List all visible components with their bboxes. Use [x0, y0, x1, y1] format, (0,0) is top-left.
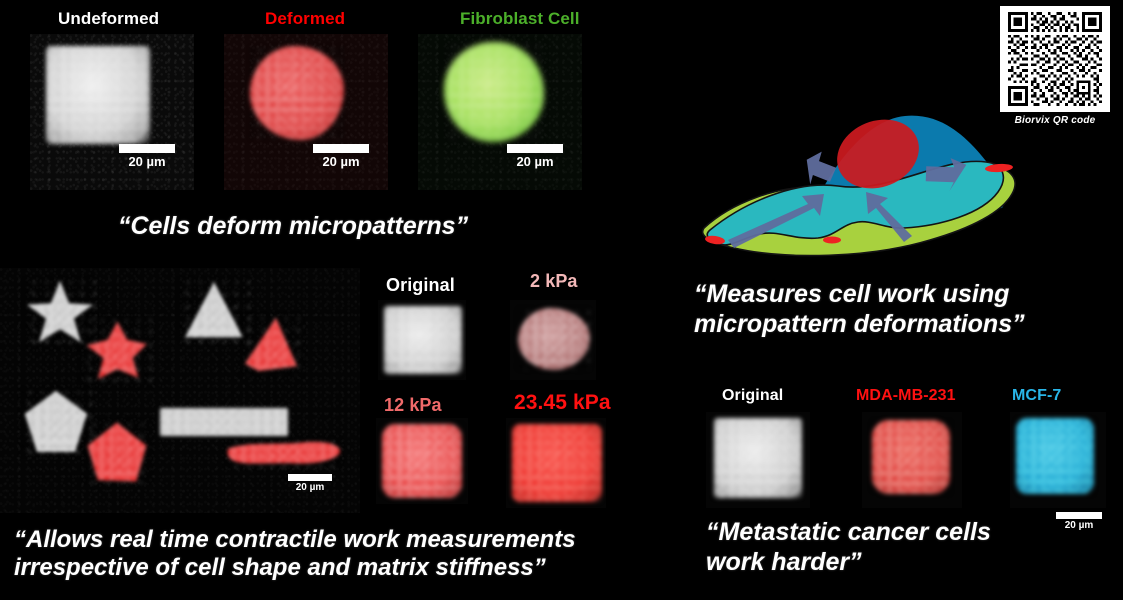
speckle-texture: [382, 424, 462, 498]
micropattern-square-white: [46, 46, 150, 144]
speckle-texture: [518, 308, 590, 370]
micropattern-deformed-red: [250, 46, 344, 140]
pattern-original-white: [384, 306, 462, 374]
panel-label-mcf-7: MCF-7: [1012, 388, 1061, 404]
speckle-texture: [240, 314, 302, 376]
scale-bar-shape-library: 20 µm: [288, 474, 332, 493]
figure-canvas: Undeformed Deformed Fibroblast Cell 20 µ…: [0, 0, 1123, 600]
micrograph-stiffness-original: [378, 300, 466, 380]
shape-triangle-deformed: [240, 314, 302, 376]
panel-label-12-kpa: 12 kPa: [384, 396, 442, 414]
panel-label-23-45-kpa: 23.45 kPa: [514, 392, 611, 413]
micrograph-deformed: 20 µm: [224, 34, 388, 190]
scale-bar-caption: 20 µm: [313, 155, 369, 168]
panel-label-cancer-original: Original: [722, 388, 783, 404]
scale-bar-fibroblast: 20 µm: [507, 144, 563, 168]
speckle-texture: [20, 388, 92, 456]
panel-label-mda-mb-231: MDA-MB-231: [856, 388, 956, 404]
speckle-texture: [512, 424, 602, 502]
fibroblast-cell-green: [444, 42, 544, 142]
scale-bar-caption: 20 µm: [119, 155, 175, 168]
pattern-2kpa-pale-pink: [518, 308, 590, 370]
cell-schematic-svg: [690, 108, 1020, 268]
focal-adhesion-bottom: [823, 237, 841, 244]
shape-rectangle-original: [160, 408, 288, 436]
qr-code-svg: [1006, 12, 1104, 106]
scale-bar-caption: 20 µm: [507, 155, 563, 168]
speckle-texture: [80, 316, 152, 386]
panel-label-undeformed: Undeformed: [58, 10, 159, 27]
shape-pentagon-original: [20, 388, 92, 456]
shape-rectangle-deformed: [226, 438, 342, 468]
micrograph-cancer-original: [706, 412, 810, 508]
micrograph-cancer-mcf-7: [1010, 412, 1106, 508]
shape-star-deformed: [80, 316, 152, 386]
micrograph-stiffness-2kpa: [510, 300, 596, 380]
speckle-texture: [714, 418, 802, 498]
speckle-texture: [384, 306, 462, 374]
speckle-texture: [250, 46, 344, 140]
pattern-mda-mb-231-red: [872, 420, 950, 494]
micrograph-stiffness-23kpa: [506, 418, 606, 508]
panel-label-2-kpa: 2 kPa: [530, 272, 578, 290]
speckle-texture: [872, 420, 950, 494]
speckle-texture: [46, 46, 150, 144]
speckle-texture: [1016, 418, 1094, 494]
panel-label-fibroblast-cell: Fibroblast Cell: [460, 10, 580, 27]
speckle-texture: [444, 42, 544, 142]
speckle-texture: [84, 420, 150, 484]
micrograph-stiffness-12kpa: [376, 418, 468, 504]
speckle-texture: [160, 408, 288, 436]
micrograph-cancer-mda-mb-231: [862, 412, 962, 508]
panel-label-stiffness-original: Original: [386, 276, 455, 294]
micrograph-fibroblast: 20 µm: [418, 34, 582, 190]
panel-label-deformed: Deformed: [265, 10, 345, 27]
micrograph-undeformed: 20 µm: [30, 34, 194, 190]
micrograph-shape-library: 20 µm: [0, 268, 360, 513]
caption-metastatic-cancer-cells: “Metastatic cancer cells work harder”: [706, 518, 1066, 577]
qr-code-image[interactable]: [1000, 6, 1110, 112]
speckle-texture: [226, 438, 342, 468]
caption-cells-deform-micropatterns: “Cells deform micropatterns”: [118, 212, 468, 242]
caption-measures-cell-work: “Measures cell work using micropattern d…: [694, 280, 1104, 339]
scale-bar-deformed: 20 µm: [313, 144, 369, 168]
scale-bar-caption: 20 µm: [288, 483, 332, 493]
pattern-12kpa-pink: [382, 424, 462, 498]
pattern-mcf-7-cyan: [1016, 418, 1094, 494]
scale-bar-undeformed: 20 µm: [119, 144, 175, 168]
cell-schematic-diagram: [690, 108, 1020, 268]
shape-pentagon-deformed: [84, 420, 150, 484]
pattern-cancer-original-white: [714, 418, 802, 498]
caption-allows-real-time-work: “Allows real time contractile work measu…: [14, 526, 704, 583]
pattern-23kpa-red: [512, 424, 602, 502]
